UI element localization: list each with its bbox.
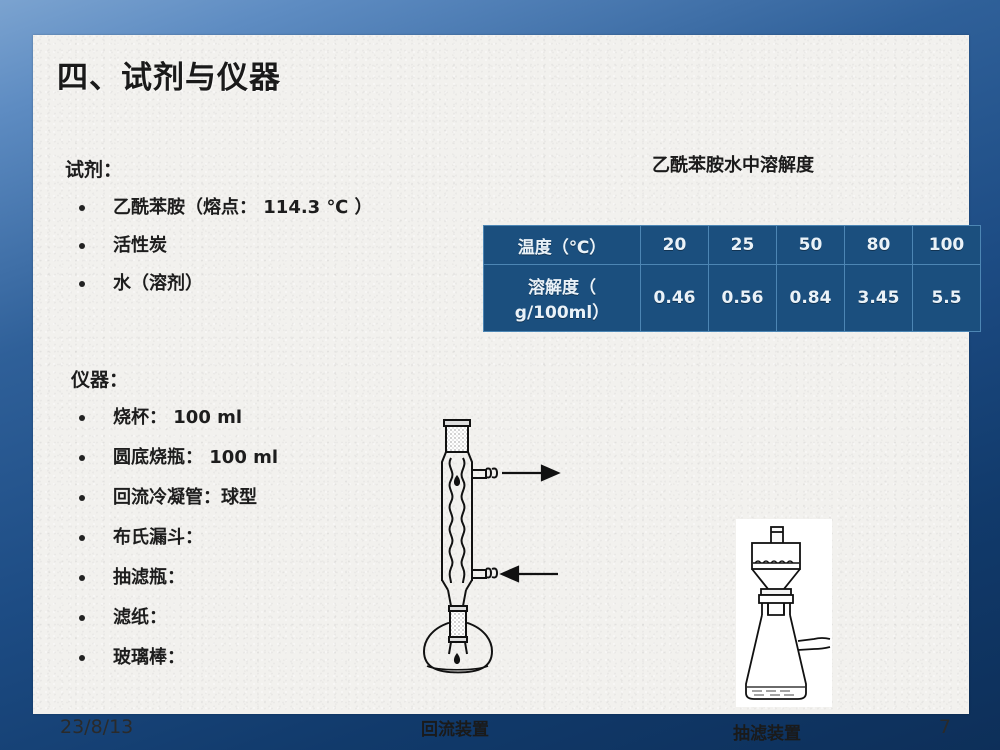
list-item: 水（溶剂） — [71, 269, 373, 307]
solubility-table: 温度（℃） 20 25 50 80 100 溶解度（ g/100ml） 0.46… — [483, 225, 981, 332]
table-cell-temperature: 80 — [845, 226, 913, 265]
suction-filtration-figure — [736, 519, 832, 707]
apparatus-heading: 仪器： — [71, 365, 128, 392]
page-title: 四、试剂与仪器 — [57, 52, 281, 97]
list-item: 烧杯： 100 ml — [71, 403, 278, 443]
apparatus-list: 烧杯： 100 ml 圆底烧瓶： 100 ml 回流冷凝管：球型 布氏漏斗： 抽… — [71, 403, 278, 683]
slide-outer-frame: 四、试剂与仪器 试剂： 乙酰苯胺（熔点： 114.3 ℃ ） 活性炭 水（溶剂）… — [0, 0, 1000, 750]
table-row: 溶解度（ g/100ml） 0.46 0.56 0.84 3.45 5.5 — [484, 265, 981, 332]
solubility-table-caption: 乙酰苯胺水中溶解度 — [543, 151, 923, 177]
table-cell-temperature: 25 — [709, 226, 777, 265]
table-row-label-solubility: 溶解度（ g/100ml） — [484, 265, 641, 332]
reflux-apparatus-figure — [418, 413, 563, 708]
footer-page-number: 7 — [939, 716, 951, 738]
list-item: 乙酰苯胺（熔点： 114.3 ℃ ） — [71, 193, 373, 231]
footer-date: 23/8/13 — [60, 716, 133, 738]
table-cell-solubility: 3.45 — [845, 265, 913, 332]
list-item: 布氏漏斗： — [71, 523, 278, 563]
water-inlet-arrow-icon — [502, 567, 558, 581]
table-cell-solubility: 0.46 — [641, 265, 709, 332]
list-item: 抽滤瓶： — [71, 563, 278, 603]
water-outlet-arrow-icon — [502, 466, 558, 480]
list-item: 活性炭 — [71, 231, 373, 269]
suction-filtration-icon — [736, 519, 832, 707]
table-cell-temperature: 50 — [777, 226, 845, 265]
list-item: 圆底烧瓶： 100 ml — [71, 443, 278, 483]
reagents-list: 乙酰苯胺（熔点： 114.3 ℃ ） 活性炭 水（溶剂） — [71, 193, 373, 307]
table-cell-solubility: 0.84 — [777, 265, 845, 332]
table-row-label-temperature: 温度（℃） — [484, 226, 641, 265]
table-cell-solubility: 5.5 — [913, 265, 981, 332]
list-item: 滤纸： — [71, 603, 278, 643]
reflux-apparatus-caption: 回流装置 — [421, 715, 489, 740]
reagents-heading: 试剂： — [65, 155, 122, 182]
table-cell-temperature: 20 — [641, 226, 709, 265]
table-row: 温度（℃） 20 25 50 80 100 — [484, 226, 981, 265]
table-cell-solubility: 0.56 — [709, 265, 777, 332]
reflux-apparatus-icon — [418, 413, 563, 708]
table-cell-temperature: 100 — [913, 226, 981, 265]
list-item: 回流冷凝管：球型 — [71, 483, 278, 523]
list-item: 玻璃棒： — [71, 643, 278, 683]
slide-canvas: 四、试剂与仪器 试剂： 乙酰苯胺（熔点： 114.3 ℃ ） 活性炭 水（溶剂）… — [33, 35, 969, 714]
suction-filtration-caption: 抽滤装置 — [733, 719, 801, 744]
